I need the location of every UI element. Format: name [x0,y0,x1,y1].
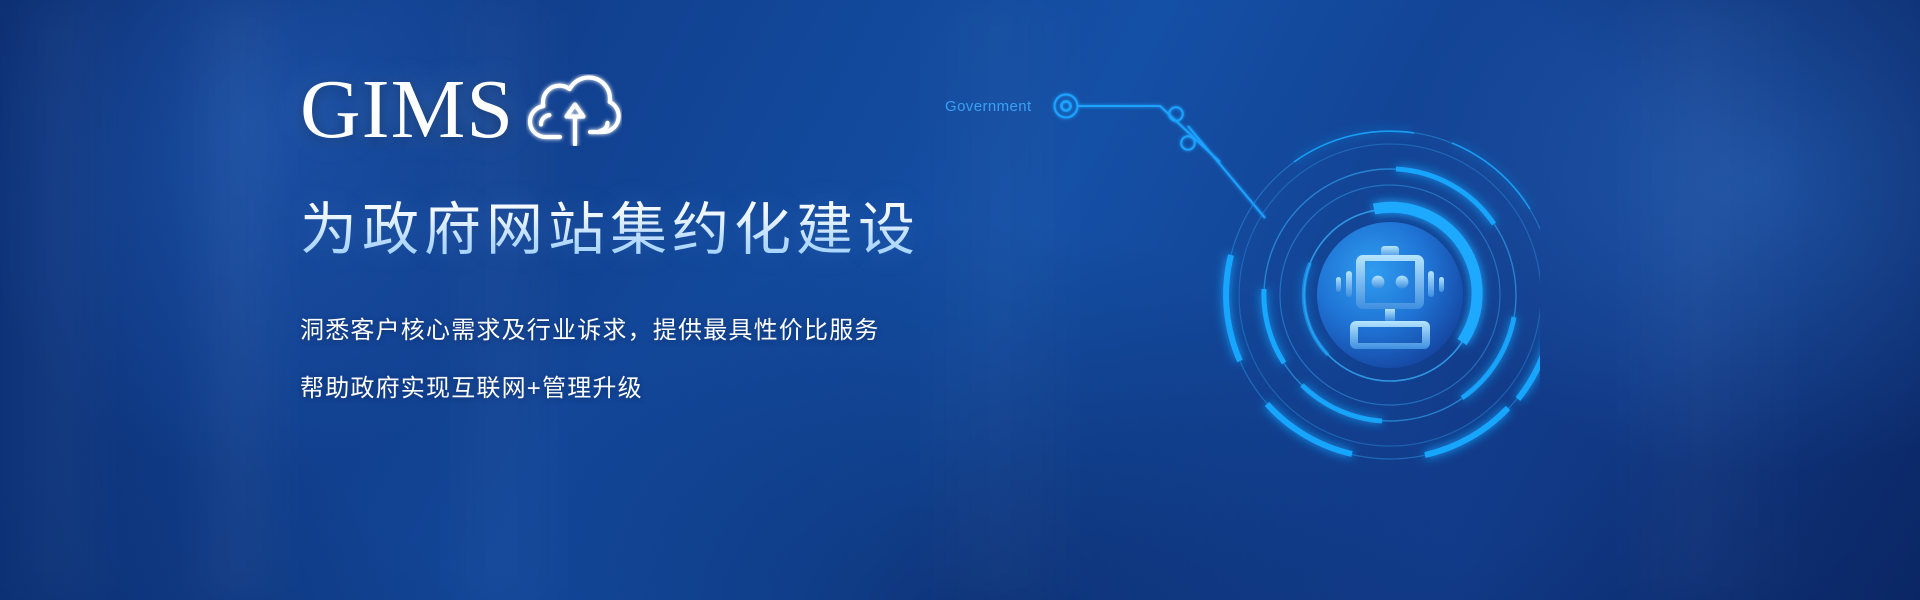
brand-title: GIMS [300,64,514,156]
ring-node-icon [1055,95,1078,118]
connector-lines [1078,106,1265,218]
tech-rings [1226,131,1540,459]
tech-graphic: Government [920,70,1540,500]
tech-circle-graphic [920,70,1540,500]
hero-banner: GIMS [0,0,1920,600]
